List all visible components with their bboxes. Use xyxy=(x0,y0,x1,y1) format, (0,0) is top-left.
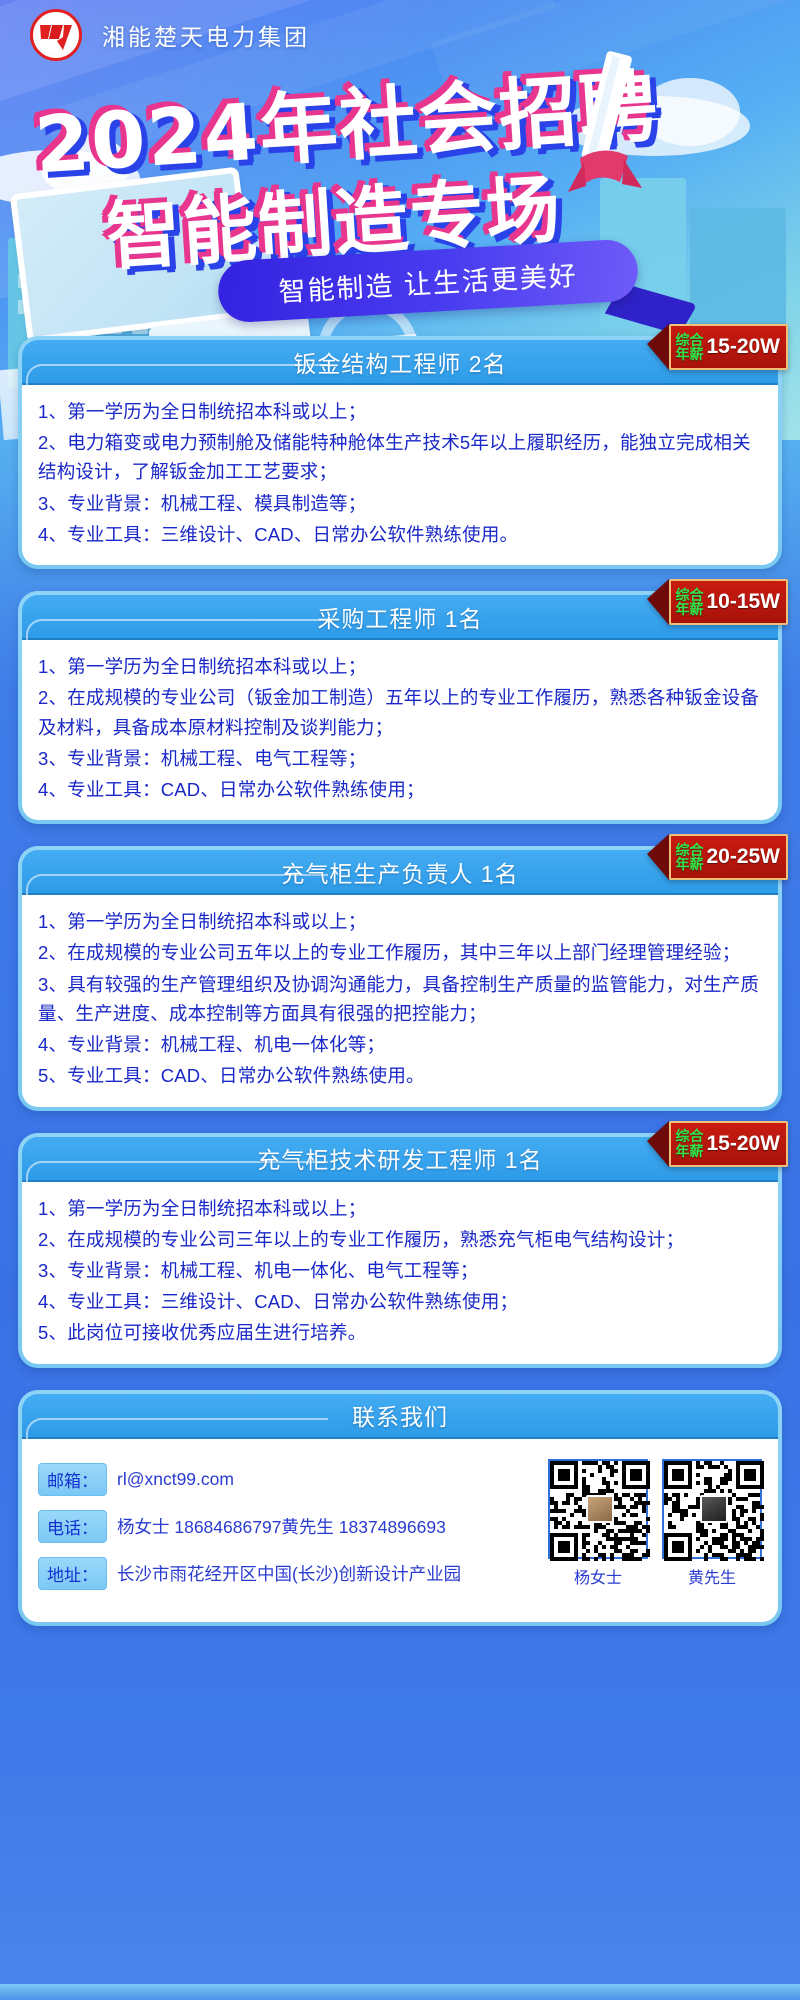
badge-label-line1: 综合 xyxy=(675,333,703,347)
job-requirement: 3、专业背景：机械工程、模具制造等； xyxy=(38,489,762,518)
job-card-body: 1、第一学历为全日制统招本科或以上； 2、电力箱变或电力预制舱及储能特种舱体生产… xyxy=(22,385,778,565)
qrcode-caption: 黄先生 xyxy=(662,1564,762,1588)
company-name: 湘能楚天电力集团 xyxy=(102,18,310,52)
contact-row-address: 地址： 长沙市雨花经开区中国(长沙)创新设计产业园 xyxy=(38,1557,532,1590)
contact-row-phone: 电话： 杨女士 18684686797黄先生 18374896693 xyxy=(38,1510,532,1543)
poster-header: 湘能楚天电力集团 xyxy=(0,0,800,70)
qrcode-avatar-icon xyxy=(700,1495,728,1523)
job-requirement: 3、具有较强的生产管理组织及协调沟通能力，具备控制生产质量的监管能力，对生产质量… xyxy=(38,970,762,1028)
badge-fold-icon xyxy=(647,324,669,370)
badge-fold-icon xyxy=(647,579,669,625)
job-requirement: 2、在成规模的专业公司三年以上的专业工作履历，熟悉充气柜电气结构设计； xyxy=(38,1225,762,1254)
job-requirement: 2、电力箱变或电力预制舱及储能特种舱体生产技术5年以上履职经历，能独立完成相关结… xyxy=(38,428,762,486)
badge-label: 综合 年薪 xyxy=(675,843,703,872)
salary-badge: 综合 年薪 20-25W xyxy=(647,834,788,880)
job-requirement: 3、专业背景：机械工程、机电一体化、电气工程等； xyxy=(38,1256,762,1285)
job-requirement: 1、第一学历为全日制统招本科或以上； xyxy=(38,907,762,936)
badge-fold-icon xyxy=(647,834,669,880)
email-label: 邮箱： xyxy=(38,1463,107,1496)
badge-label-line1: 综合 xyxy=(675,1129,703,1143)
badge-label: 综合 年薪 xyxy=(675,588,703,617)
contact-row-email: 邮箱： rl@xnct99.com xyxy=(38,1463,532,1496)
job-title: 充气柜生产负责人 1名 xyxy=(281,855,518,889)
job-requirement: 5、此岗位可接收优秀应届生进行培养。 xyxy=(38,1318,762,1347)
job-requirement: 5、专业工具：CAD、日常办公软件熟练使用。 xyxy=(38,1061,762,1090)
address-value: 长沙市雨花经开区中国(长沙)创新设计产业园 xyxy=(117,1561,461,1586)
contact-card-header: 联系我们 xyxy=(22,1394,778,1439)
contact-card-shell: 联系我们 邮箱： rl@xnct99.com 电话： 杨女士 186846867… xyxy=(18,1390,782,1626)
lightning-bolt-icon xyxy=(39,19,73,51)
badge-label-line2: 年薪 xyxy=(675,1144,703,1158)
badge-label-line1: 综合 xyxy=(675,588,703,602)
qrcode-caption: 杨女士 xyxy=(548,1564,648,1588)
badge-label: 综合 年薪 xyxy=(675,333,703,362)
badge-label-line2: 年薪 xyxy=(675,347,703,361)
badge-label: 综合 年薪 xyxy=(675,1129,703,1158)
job-requirement: 1、第一学历为全日制统招本科或以上； xyxy=(38,397,762,426)
salary-value: 15-20W xyxy=(706,1132,780,1156)
job-requirement: 3、专业背景：机械工程、电气工程等； xyxy=(38,744,762,773)
qrcode-item[interactable]: 杨女士 xyxy=(548,1459,648,1604)
salary-value: 10-15W xyxy=(706,590,780,614)
contact-card-body: 邮箱： rl@xnct99.com 电话： 杨女士 18684686797黄先生… xyxy=(22,1439,778,1622)
salary-badge: 综合 年薪 10-15W xyxy=(647,579,788,625)
job-requirement: 4、专业工具：三维设计、CAD、日常办公软件熟练使用。 xyxy=(38,520,762,549)
badge-box: 综合 年薪 20-25W xyxy=(669,834,788,880)
phone-label: 电话： xyxy=(38,1510,107,1543)
hero-subtitle-text: 智能制造 让生活更美好 xyxy=(277,253,578,309)
qrcode-image-huang[interactable] xyxy=(662,1459,762,1559)
job-requirement: 2、在成规模的专业公司（钣金加工制造）五年以上的专业工作履历，熟悉各种钣金设备及… xyxy=(38,683,762,741)
badge-box: 综合 年薪 15-20W xyxy=(669,324,788,370)
salary-value: 15-20W xyxy=(706,335,780,359)
job-card[interactable]: 综合 年薪 15-20W 充气柜技术研发工程师 1名 1、第一学历为全日制统招本… xyxy=(18,1133,782,1368)
qrcode-image-yang[interactable] xyxy=(548,1459,648,1559)
job-card-body: 1、第一学历为全日制统招本科或以上； 2、在成规模的专业公司（钣金加工制造）五年… xyxy=(22,640,778,820)
job-requirement: 1、第一学历为全日制统招本科或以上； xyxy=(38,1194,762,1223)
contact-details: 邮箱： rl@xnct99.com 电话： 杨女士 18684686797黄先生… xyxy=(38,1455,532,1604)
qrcode-item[interactable]: 黄先生 xyxy=(662,1459,762,1604)
salary-badge: 综合 年薪 15-20W xyxy=(647,1121,788,1167)
job-card[interactable]: 综合 年薪 20-25W 充气柜生产负责人 1名 1、第一学历为全日制统招本科或… xyxy=(18,846,782,1110)
bottom-strip xyxy=(0,1984,800,2000)
badge-box: 综合 年薪 15-20W xyxy=(669,1121,788,1167)
job-title: 钣金结构工程师 2名 xyxy=(293,345,506,379)
address-label: 地址： xyxy=(38,1557,107,1590)
job-requirement: 4、专业背景：机械工程、机电一体化等； xyxy=(38,1030,762,1059)
badge-label-line2: 年薪 xyxy=(675,602,703,616)
job-requirement: 4、专业工具：CAD、日常办公软件熟练使用； xyxy=(38,775,762,804)
job-card-shell: 充气柜技术研发工程师 1名 1、第一学历为全日制统招本科或以上； 2、在成规模的… xyxy=(18,1133,782,1368)
phone-value[interactable]: 杨女士 18684686797黄先生 18374896693 xyxy=(117,1514,446,1539)
job-card-body: 1、第一学历为全日制统招本科或以上； 2、在成规模的专业公司五年以上的专业工作履… xyxy=(22,895,778,1106)
job-requirement: 1、第一学历为全日制统招本科或以上； xyxy=(38,652,762,681)
job-requirement: 2、在成规模的专业公司五年以上的专业工作履历，其中三年以上部门经理管理经验； xyxy=(38,938,762,967)
email-value[interactable]: rl@xnct99.com xyxy=(117,1469,234,1490)
hero-title-zone: 2024年社会招聘 智能制造专场 xyxy=(0,52,800,272)
badge-box: 综合 年薪 10-15W xyxy=(669,579,788,625)
job-card-shell: 钣金结构工程师 2名 1、第一学历为全日制统招本科或以上； 2、电力箱变或电力预… xyxy=(18,336,782,569)
job-title: 充气柜技术研发工程师 1名 xyxy=(257,1141,542,1175)
job-card[interactable]: 综合 年薪 10-15W 采购工程师 1名 1、第一学历为全日制统招本科或以上；… xyxy=(18,591,782,824)
job-title: 采购工程师 1名 xyxy=(317,600,482,634)
salary-badge: 综合 年薪 15-20W xyxy=(647,324,788,370)
job-card-body: 1、第一学历为全日制统招本科或以上； 2、在成规模的专业公司三年以上的专业工作履… xyxy=(22,1182,778,1364)
badge-label-line2: 年薪 xyxy=(675,857,703,871)
job-cards-container: 综合 年薪 15-20W 钣金结构工程师 2名 1、第一学历为全日制统招本科或以… xyxy=(0,336,800,1648)
job-requirement: 4、专业工具：三维设计、CAD、日常办公软件熟练使用； xyxy=(38,1287,762,1316)
job-card-shell: 充气柜生产负责人 1名 1、第一学历为全日制统招本科或以上； 2、在成规模的专业… xyxy=(18,846,782,1110)
salary-value: 20-25W xyxy=(706,845,780,869)
contact-title: 联系我们 xyxy=(352,1398,448,1432)
job-card[interactable]: 综合 年薪 15-20W 钣金结构工程师 2名 1、第一学历为全日制统招本科或以… xyxy=(18,336,782,569)
company-logo xyxy=(30,9,82,61)
qrcode-avatar-icon xyxy=(586,1495,614,1523)
contact-card: 联系我们 邮箱： rl@xnct99.com 电话： 杨女士 186846867… xyxy=(18,1390,782,1626)
job-card-shell: 采购工程师 1名 1、第一学历为全日制统招本科或以上； 2、在成规模的专业公司（… xyxy=(18,591,782,824)
badge-fold-icon xyxy=(647,1121,669,1167)
qrcode-group: 杨女士 黄先生 xyxy=(532,1455,762,1604)
